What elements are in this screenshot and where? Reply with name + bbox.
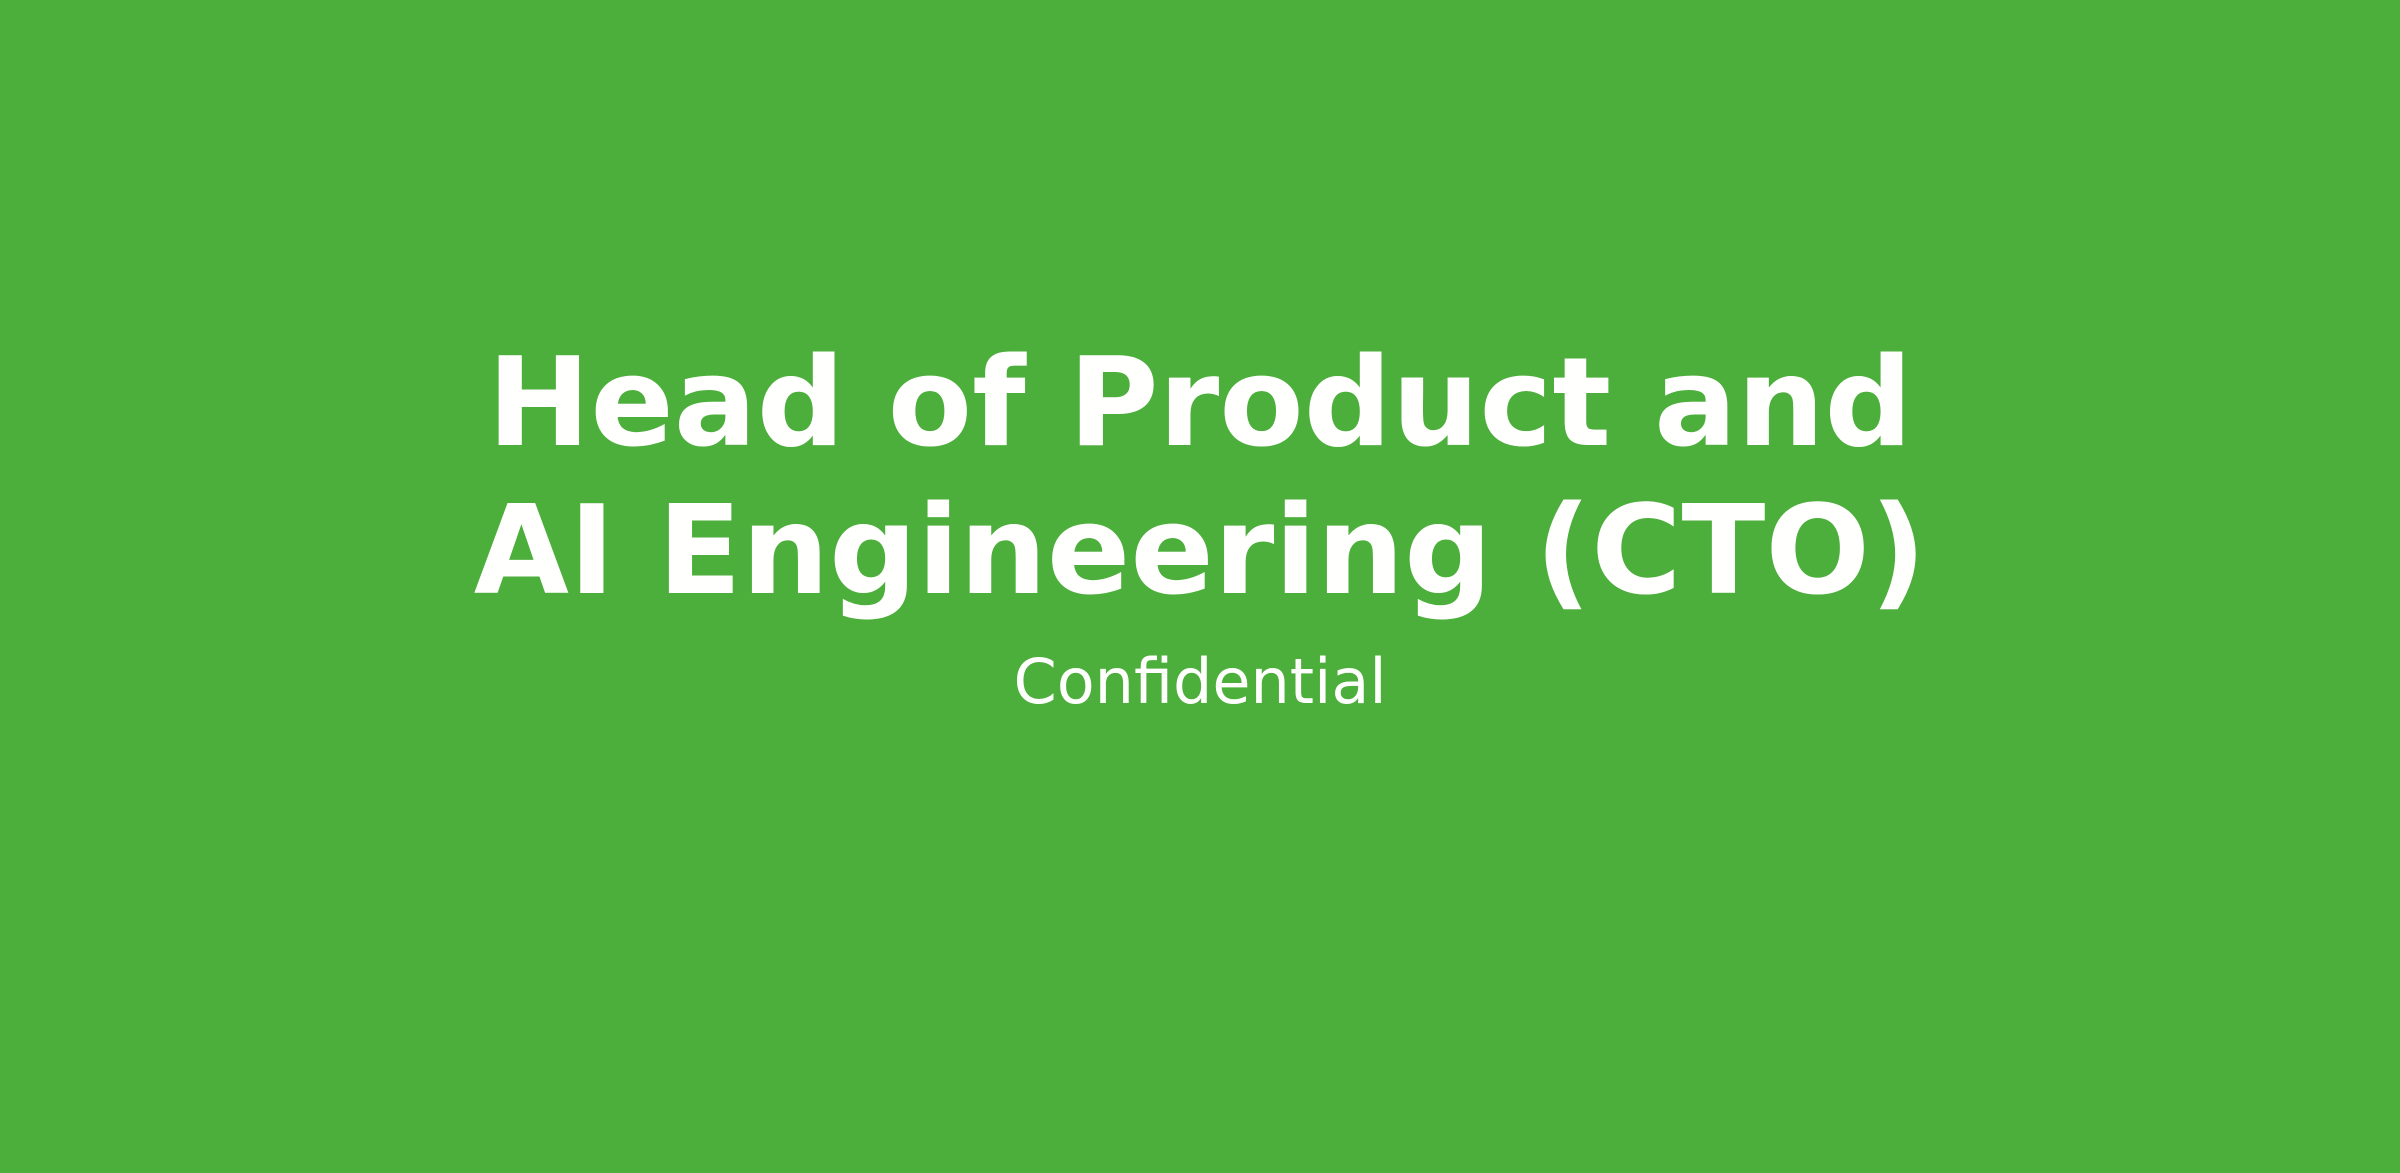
slide-subtitle: Confidential	[0, 644, 2400, 720]
title-slide: Head of Product and AI Engineering (CTO)…	[0, 0, 2400, 1173]
page-title: Head of Product and AI Engineering (CTO)	[400, 330, 2000, 626]
title-block: Head of Product and AI Engineering (CTO)…	[0, 330, 2400, 720]
